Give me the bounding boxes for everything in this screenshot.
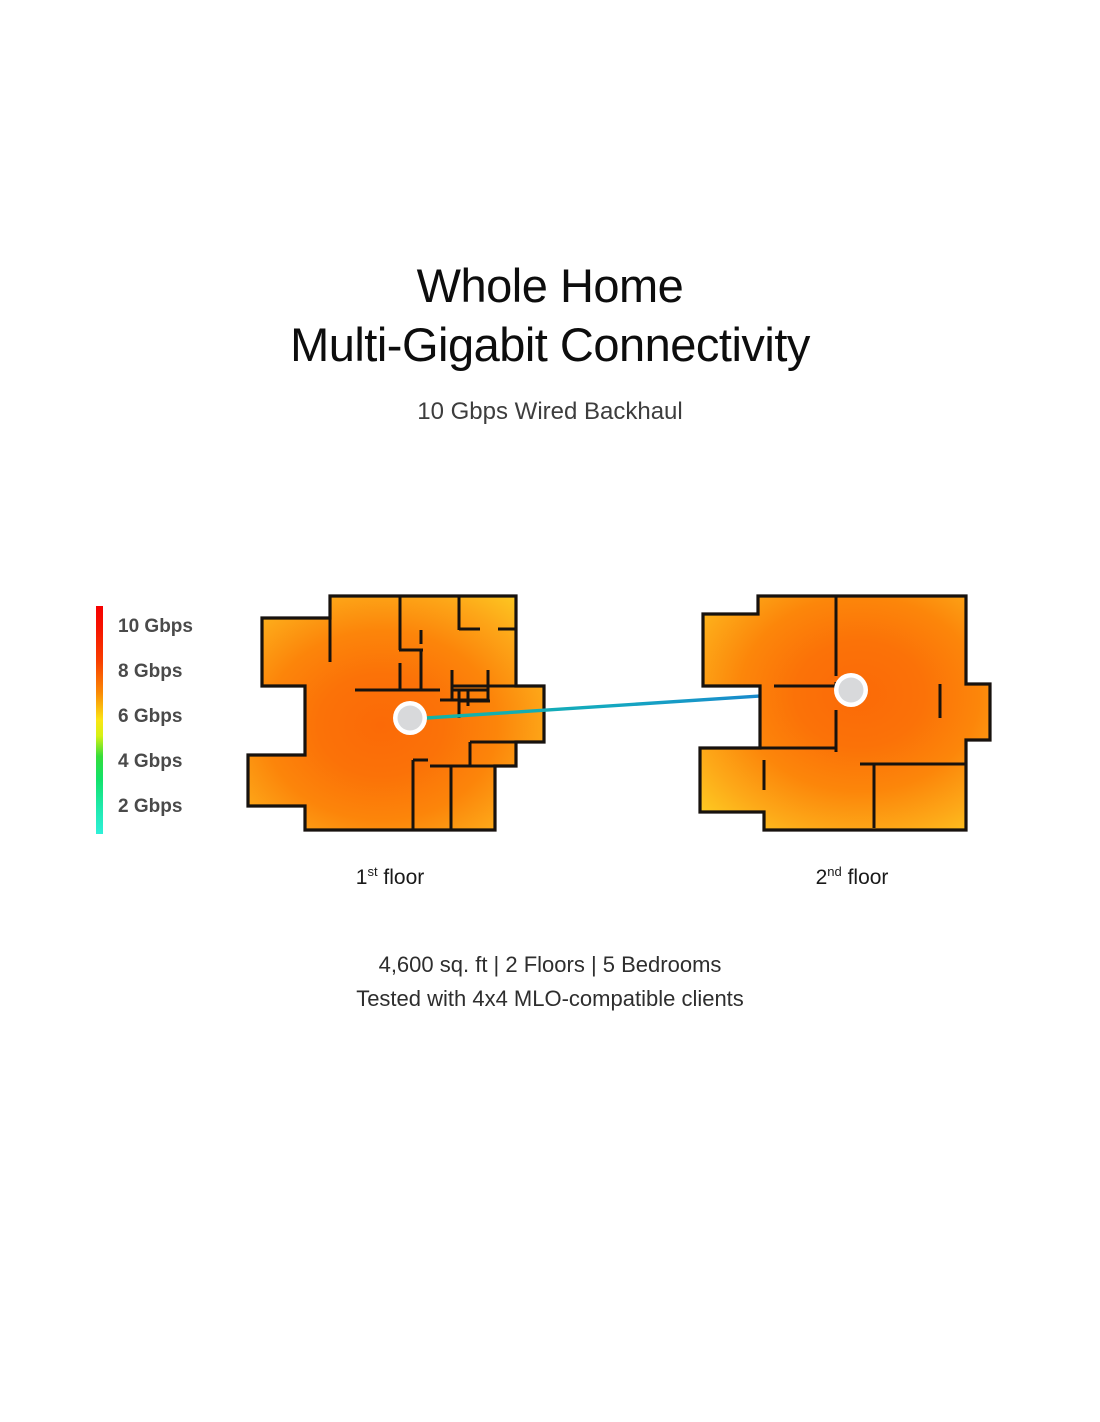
mesh-node-1[interactable] bbox=[393, 701, 427, 735]
title-line-2: Multi-Gigabit Connectivity bbox=[0, 315, 1100, 374]
floor-1-outer-wall bbox=[248, 596, 544, 830]
floor-2-heatmap-fill bbox=[690, 585, 1010, 845]
footer-line-specs: 4,600 sq. ft | 2 Floors | 5 Bedrooms bbox=[0, 948, 1100, 982]
floor-1-interior-walls bbox=[330, 596, 516, 830]
footer-line-test-note: Tested with 4x4 MLO-compatible clients bbox=[0, 982, 1100, 1016]
floor-1-heatmap-fill bbox=[240, 585, 560, 845]
floor-2-outer-wall bbox=[700, 596, 990, 830]
floor-2-ordinal-number: 2 bbox=[816, 866, 828, 889]
title-line-1: Whole Home bbox=[0, 256, 1100, 315]
floor-1-caption: 1st floor bbox=[290, 866, 490, 890]
legend-label-4gbps: 4 Gbps bbox=[118, 751, 182, 773]
floorplan-floor-1 bbox=[240, 585, 851, 845]
backhaul-link-line bbox=[411, 690, 851, 719]
floor-1-ordinal-suffix: st bbox=[367, 864, 377, 879]
floor-2-unit: floor bbox=[842, 866, 889, 889]
legend-label-10gbps: 10 Gbps bbox=[118, 616, 193, 638]
signal-strength-legend: 10 Gbps 8 Gbps 6 Gbps 4 Gbps 2 Gbps bbox=[96, 606, 226, 834]
mesh-node-2[interactable] bbox=[834, 673, 868, 707]
floor-2-interior-walls bbox=[703, 596, 966, 828]
legend-gradient-bar bbox=[96, 606, 103, 834]
floorplan-floor-2 bbox=[690, 585, 1010, 845]
legend-label-8gbps: 8 Gbps bbox=[118, 661, 182, 683]
floor-1-ordinal-number: 1 bbox=[356, 866, 368, 889]
legend-label-2gbps: 2 Gbps bbox=[118, 796, 182, 818]
page-title: Whole Home Multi-Gigabit Connectivity bbox=[0, 256, 1100, 374]
floor-2-ordinal-suffix: nd bbox=[827, 864, 841, 879]
floor-2-caption: 2nd floor bbox=[752, 866, 952, 890]
legend-label-6gbps: 6 Gbps bbox=[118, 706, 182, 728]
page-subtitle: 10 Gbps Wired Backhaul bbox=[0, 398, 1100, 426]
floor-1-unit: floor bbox=[378, 866, 425, 889]
footer-annotations: 4,600 sq. ft | 2 Floors | 5 Bedrooms Tes… bbox=[0, 948, 1100, 1016]
